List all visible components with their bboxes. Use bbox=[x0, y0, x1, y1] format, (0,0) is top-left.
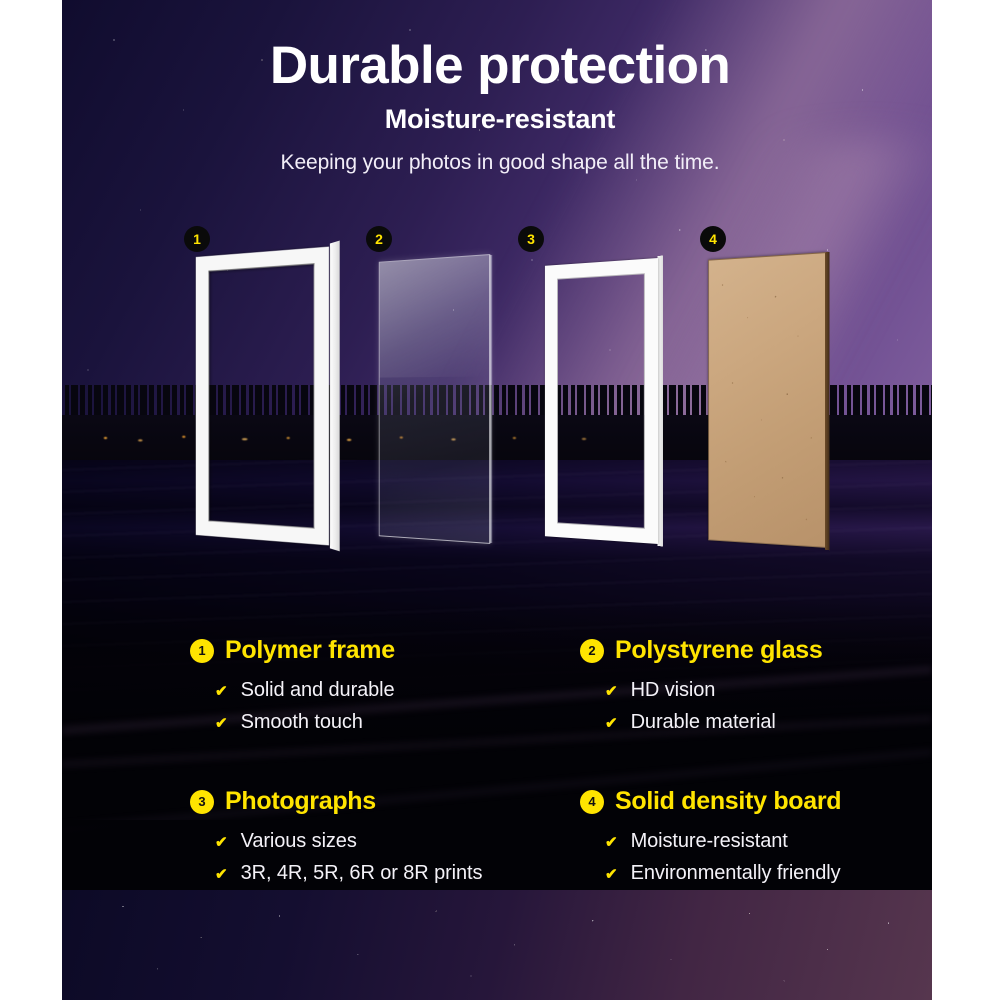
feature-3-title: Photographs bbox=[225, 787, 376, 816]
diagram-badge-4: 4 bbox=[700, 226, 726, 252]
glass-edge bbox=[489, 255, 492, 543]
part-polymer-frame bbox=[196, 247, 329, 546]
feature-list: 1 Polymer frame ✔ Solid and durable ✔ Sm… bbox=[0, 636, 1000, 894]
mat-side-depth bbox=[658, 255, 663, 546]
feature-badge-3: 3 bbox=[190, 790, 214, 814]
bullet-label: 3R, 4R, 5R, 6R or 8R prints bbox=[241, 862, 483, 885]
feature-3-head: 3 Photographs bbox=[190, 787, 500, 816]
part-solid-density-board bbox=[708, 252, 827, 548]
list-item: ✔ Solid and durable bbox=[215, 679, 500, 702]
diagram-badge-2: 2 bbox=[366, 226, 392, 252]
feature-row-gap bbox=[0, 743, 1000, 787]
check-icon: ✔ bbox=[605, 835, 618, 850]
feature-row-bottom: 3 Photographs ✔ Various sizes ✔ 3R, 4R, … bbox=[0, 787, 1000, 894]
feature-1-title: Polymer frame bbox=[225, 636, 395, 665]
bottom-starfield bbox=[62, 880, 932, 1000]
feature-1-bullets: ✔ Solid and durable ✔ Smooth touch bbox=[190, 679, 500, 734]
bullet-label: Durable material bbox=[631, 711, 776, 734]
feature-1-head: 1 Polymer frame bbox=[190, 636, 500, 665]
mat-face bbox=[545, 258, 658, 544]
list-item: ✔ HD vision bbox=[605, 679, 1000, 702]
page-subtitle: Moisture-resistant bbox=[0, 104, 1000, 135]
mdf-side-edge bbox=[825, 252, 830, 551]
page-tagline: Keeping your photos in good shape all th… bbox=[0, 151, 1000, 175]
check-icon: ✔ bbox=[605, 867, 618, 882]
feature-3-bullets: ✔ Various sizes ✔ 3R, 4R, 5R, 6R or 8R p… bbox=[190, 830, 500, 885]
feature-badge-2: 2 bbox=[580, 639, 604, 663]
diagram-badge-3: 3 bbox=[518, 226, 544, 252]
bullet-label: Moisture-resistant bbox=[631, 830, 788, 853]
list-item: ✔ 3R, 4R, 5R, 6R or 8R prints bbox=[215, 862, 500, 885]
feature-2-bullets: ✔ HD vision ✔ Durable material bbox=[580, 679, 1000, 734]
list-item: ✔ Smooth touch bbox=[215, 711, 500, 734]
glass-sheen bbox=[380, 255, 490, 377]
list-item: ✔ Various sizes bbox=[215, 830, 500, 853]
list-item: ✔ Durable material bbox=[605, 711, 1000, 734]
feature-row-top: 1 Polymer frame ✔ Solid and durable ✔ Sm… bbox=[0, 636, 1000, 743]
check-icon: ✔ bbox=[605, 684, 618, 699]
frame-side-depth bbox=[330, 240, 340, 551]
check-icon: ✔ bbox=[605, 716, 618, 731]
check-icon: ✔ bbox=[215, 867, 228, 882]
heading-block: Durable protection Moisture-resistant Ke… bbox=[0, 38, 1000, 175]
diagram-badge-1: 1 bbox=[184, 226, 210, 252]
feature-4-bullets: ✔ Moisture-resistant ✔ Environmentally f… bbox=[580, 830, 1000, 885]
feature-badge-1: 1 bbox=[190, 639, 214, 663]
bullet-label: Smooth touch bbox=[241, 711, 363, 734]
feature-item-1: 1 Polymer frame ✔ Solid and durable ✔ Sm… bbox=[0, 636, 500, 743]
bullet-label: Various sizes bbox=[241, 830, 357, 853]
feature-2-head: 2 Polystyrene glass bbox=[580, 636, 1000, 665]
feature-item-2: 2 Polystyrene glass ✔ HD vision ✔ Durabl… bbox=[500, 636, 1000, 743]
bullet-label: Solid and durable bbox=[241, 679, 395, 702]
part-polystyrene-glass bbox=[379, 254, 491, 544]
bullet-label: Environmentally friendly bbox=[631, 862, 841, 885]
check-icon: ✔ bbox=[215, 835, 228, 850]
check-icon: ✔ bbox=[215, 684, 228, 699]
feature-item-4: 4 Solid density board ✔ Moisture-resista… bbox=[500, 787, 1000, 894]
feature-item-3: 3 Photographs ✔ Various sizes ✔ 3R, 4R, … bbox=[0, 787, 500, 894]
feature-2-title: Polystyrene glass bbox=[615, 636, 823, 665]
page-title: Durable protection bbox=[0, 38, 1000, 94]
list-item: ✔ Moisture-resistant bbox=[605, 830, 1000, 853]
feature-4-head: 4 Solid density board bbox=[580, 787, 1000, 816]
part-photograph-mat bbox=[545, 258, 658, 544]
feature-4-title: Solid density board bbox=[615, 787, 841, 816]
check-icon: ✔ bbox=[215, 716, 228, 731]
bullet-label: HD vision bbox=[631, 679, 716, 702]
list-item: ✔ Environmentally friendly bbox=[605, 862, 1000, 885]
product-infographic: Durable protection Moisture-resistant Ke… bbox=[0, 0, 1000, 1000]
feature-badge-4: 4 bbox=[580, 790, 604, 814]
